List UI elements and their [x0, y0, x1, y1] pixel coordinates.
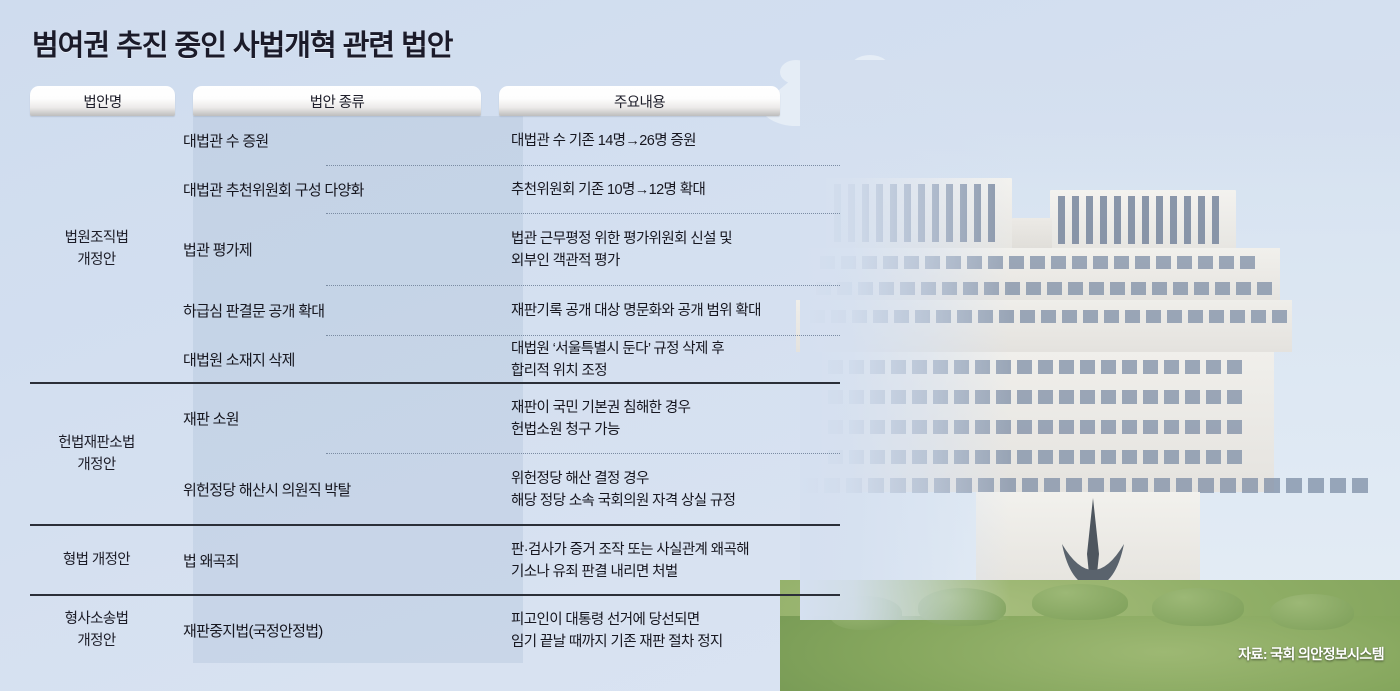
- bill-type-cell: 재판중지법(국정안정법): [163, 596, 493, 666]
- bill-detail-cell: 법관 근무평정 위한 평가위원회 신설 및 외부인 객관적 평가: [493, 214, 840, 286]
- law-group: 형법 개정안 법 왜곡죄 판·검사가 증거 조작 또는 사실관계 왜곡해 기소나…: [30, 526, 840, 596]
- law-group: 헌법재판소법 개정안 재판 소원 재판이 국민 기본권 침해한 경우 헌법소원 …: [30, 384, 840, 526]
- bill-detail-cell: 대법원 ‘서울특별시 둔다’ 규정 삭제 후 합리적 위치 조정: [493, 336, 840, 384]
- group-name-line2: 개정안: [77, 633, 115, 649]
- bill-type-cell: 대법관 수 증원: [163, 116, 493, 166]
- bill-detail-cell: 대법관 수 기존 14명→26명 증원: [493, 116, 840, 166]
- table-row: 위헌정당 해산시 의원직 박탈 위헌정당 해산 결정 경우 해당 정당 소속 국…: [163, 454, 840, 526]
- column-header-bill-name: 법안명: [30, 86, 175, 116]
- bill-type-cell: 재판 소원: [163, 384, 493, 454]
- group-name-line2: 개정안: [77, 252, 115, 268]
- column-header-label: 주요내용: [499, 86, 780, 116]
- law-group: 법원조직법 개정안 대법관 수 증원 대법관 수 기존 14명→26명 증원 대…: [30, 116, 840, 384]
- group-name-line1: 형법 개정안: [63, 550, 130, 572]
- detail-line1: 대법관 수 기존 14명→26명 증원: [511, 133, 696, 149]
- legislation-table: 법원조직법 개정안 대법관 수 증원 대법관 수 기존 14명→26명 증원 대…: [30, 116, 840, 666]
- detail-line1: 재판이 국민 기본권 침해한 경우: [511, 400, 690, 416]
- detail-line1: 피고인이 대통령 선거에 당선되면: [511, 612, 700, 628]
- group-name-criminal-procedure: 형사소송법 개정안: [30, 596, 163, 666]
- bill-type-cell: 위헌정당 해산시 의원직 박탈: [163, 454, 493, 526]
- group-name-line1: 헌법재판소법: [58, 435, 134, 451]
- detail-line1: 추천위원회 기존 10명→12명 확대: [511, 182, 705, 198]
- group-name-line2: 개정안: [77, 457, 115, 473]
- detail-line2: 헌법소원 청구 가능: [511, 422, 620, 438]
- source-attribution: 자료: 국회 의안정보시스템: [1238, 644, 1384, 664]
- bill-type-cell: 대법원 소재지 삭제: [163, 336, 493, 384]
- bill-detail-cell: 피고인이 대통령 선거에 당선되면 임기 끝날 때까지 기존 재판 절차 정지: [493, 596, 840, 666]
- detail-line1: 재판기록 공개 대상 명문화와 공개 범위 확대: [511, 303, 761, 319]
- table-row: 재판 소원 재판이 국민 기본권 침해한 경우 헌법소원 청구 가능: [163, 384, 840, 454]
- bill-type-cell: 법 왜곡죄: [163, 526, 493, 596]
- detail-line2: 외부인 객관적 평가: [511, 253, 620, 269]
- detail-line1: 판·검사가 증거 조작 또는 사실관계 왜곡해: [511, 542, 749, 558]
- page-title: 범여권 추진 중인 사법개혁 관련 법안: [32, 22, 453, 64]
- table-row: 법관 평가제 법관 근무평정 위한 평가위원회 신설 및 외부인 객관적 평가: [163, 214, 840, 286]
- detail-line1: 법관 근무평정 위한 평가위원회 신설 및: [511, 231, 732, 247]
- group-name-constitutional-court: 헌법재판소법 개정안: [30, 384, 163, 526]
- detail-line2: 임기 끝날 때까지 기존 재판 절차 정지: [511, 634, 723, 650]
- bill-detail-cell: 추천위원회 기존 10명→12명 확대: [493, 166, 840, 214]
- bill-detail-cell: 위헌정당 해산 결정 경우 해당 정당 소속 국회의원 자격 상실 규정: [493, 454, 840, 526]
- bill-type-cell: 하급심 판결문 공개 확대: [163, 286, 493, 336]
- table-row: 하급심 판결문 공개 확대 재판기록 공개 대상 명문화와 공개 범위 확대: [163, 286, 840, 336]
- column-header-label: 법안 종류: [193, 86, 481, 116]
- column-header-bill-type: 법안 종류: [193, 86, 481, 116]
- table-row: 재판중지법(국정안정법) 피고인이 대통령 선거에 당선되면 임기 끝날 때까지…: [163, 596, 840, 666]
- group-name-line1: 형사소송법: [65, 611, 129, 627]
- group-name-criminal-law: 형법 개정안: [30, 526, 163, 596]
- law-group: 형사소송법 개정안 재판중지법(국정안정법) 피고인이 대통령 선거에 당선되면…: [30, 596, 840, 666]
- bill-detail-cell: 판·검사가 증거 조작 또는 사실관계 왜곡해 기소나 유죄 판결 내리면 처벌: [493, 526, 840, 596]
- bill-detail-cell: 재판기록 공개 대상 명문화와 공개 범위 확대: [493, 286, 840, 336]
- bill-type-cell: 법관 평가제: [163, 214, 493, 286]
- detail-line2: 해당 정당 소속 국회의원 자격 상실 규정: [511, 493, 735, 509]
- table-row: 대법원 소재지 삭제 대법원 ‘서울특별시 둔다’ 규정 삭제 후 합리적 위치…: [163, 336, 840, 384]
- table-row: 대법관 추천위원회 구성 다양화 추천위원회 기존 10명→12명 확대: [163, 166, 840, 214]
- column-header-label: 법안명: [30, 86, 175, 116]
- detail-line2: 합리적 위치 조정: [511, 363, 607, 379]
- detail-line1: 위헌정당 해산 결정 경우: [511, 471, 649, 487]
- group-name-line1: 법원조직법: [65, 230, 129, 246]
- bill-type-cell: 대법관 추천위원회 구성 다양화: [163, 166, 493, 214]
- column-header-bill-detail: 주요내용: [499, 86, 780, 116]
- detail-line2: 기소나 유죄 판결 내리면 처벌: [511, 564, 678, 580]
- group-name-court-organization: 법원조직법 개정안: [30, 116, 163, 384]
- bill-detail-cell: 재판이 국민 기본권 침해한 경우 헌법소원 청구 가능: [493, 384, 840, 454]
- detail-line1: 대법원 ‘서울특별시 둔다’ 규정 삭제 후: [511, 341, 724, 357]
- table-row: 법 왜곡죄 판·검사가 증거 조작 또는 사실관계 왜곡해 기소나 유죄 판결 …: [163, 526, 840, 596]
- table-row: 대법관 수 증원 대법관 수 기존 14명→26명 증원: [163, 116, 840, 166]
